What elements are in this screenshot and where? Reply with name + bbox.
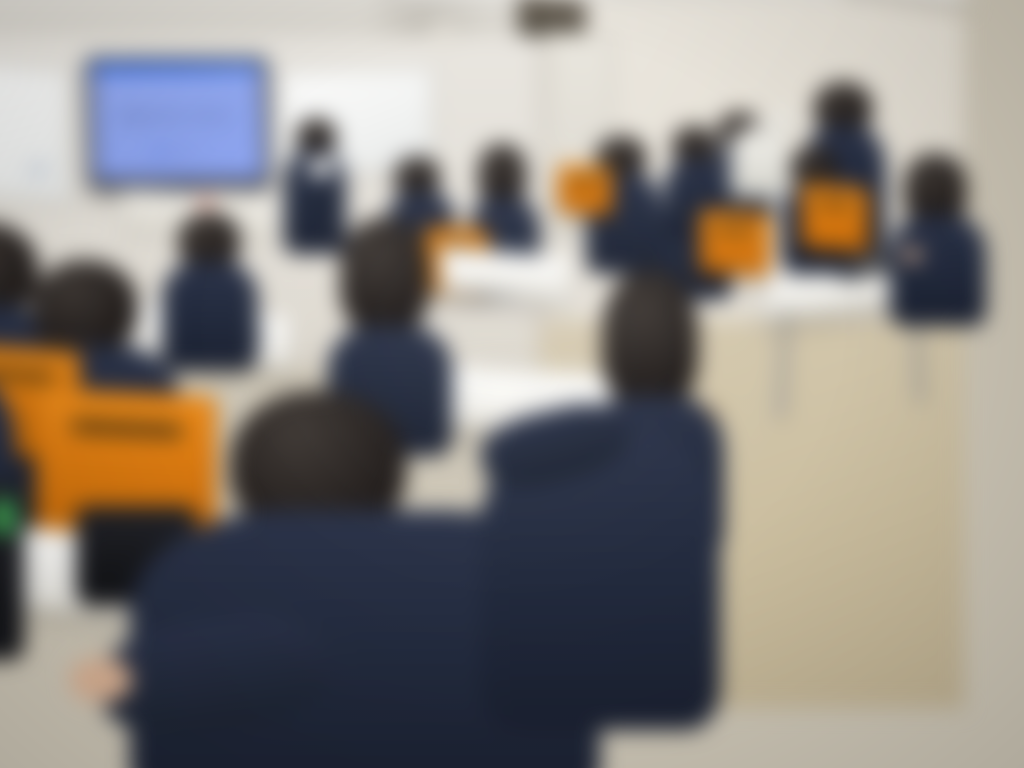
school-bag[interactable] — [0, 480, 24, 660]
chair-slot — [814, 198, 854, 208]
screen-surface: スライド 僕の成長に大切なことを考えよう 学びのデザイン — [91, 63, 264, 181]
student-head — [602, 270, 698, 410]
bag-charm — [0, 500, 16, 534]
classroom-photo: スライド 僕の成長に大切なことを考えよう 学びのデザイン — [0, 0, 1024, 768]
chair-slot — [568, 176, 602, 184]
slide-logo: 学びのデザイン — [94, 149, 264, 157]
ceiling-speaker — [432, 24, 456, 46]
whiteboard-marking — [28, 164, 48, 176]
blur-layer: スライド 僕の成長に大切なことを考えよう 学びのデザイン — [0, 0, 1024, 768]
worksheet — [479, 382, 525, 406]
logo-mark-icon — [155, 149, 162, 156]
chair[interactable] — [802, 183, 868, 253]
student-hand — [70, 658, 132, 702]
slide-topbar: スライド — [91, 63, 261, 73]
chair-slot — [712, 224, 756, 234]
whiteboard-left — [0, 58, 72, 203]
student-head — [32, 260, 138, 356]
student-body — [162, 262, 258, 370]
student-head — [340, 218, 430, 334]
student-hand — [902, 248, 922, 262]
projection-screen[interactable]: スライド 僕の成長に大切なことを考えよう 学びのデザイン — [86, 58, 270, 189]
chair[interactable] — [558, 164, 612, 216]
student-body — [890, 216, 986, 326]
student-head — [478, 144, 526, 206]
cabinet-item — [198, 199, 214, 205]
slide-topbar-label: スライド — [97, 64, 114, 70]
slide-logo-text: 学びのデザイン — [165, 149, 202, 156]
chair-slot — [0, 367, 54, 382]
slide-title: 僕の成長に大切なことを考えよう — [93, 111, 263, 123]
chair[interactable] — [700, 210, 770, 277]
chair-slot — [72, 419, 182, 438]
